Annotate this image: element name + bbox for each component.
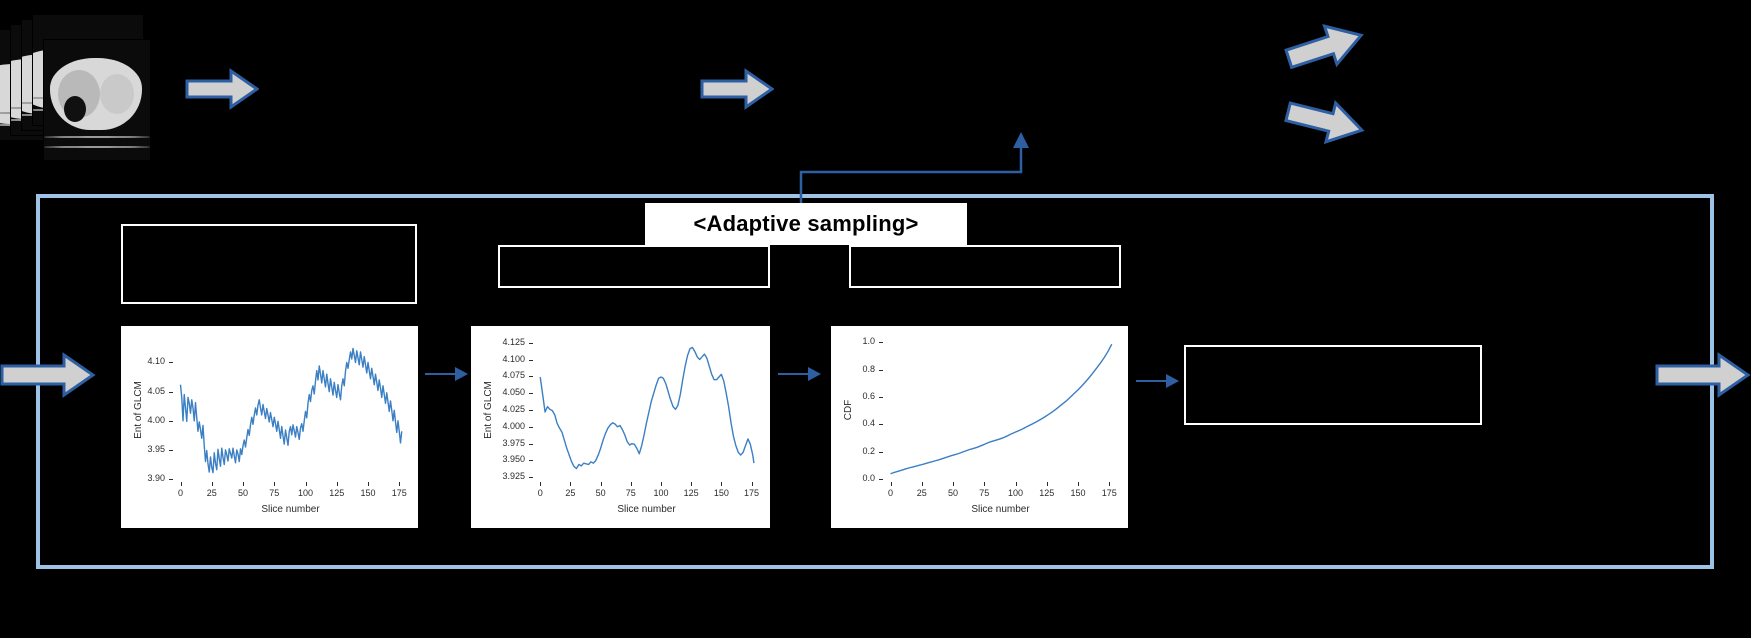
box-top-mid xyxy=(498,245,770,288)
arrow-stage2-to-out-upper xyxy=(1283,18,1367,76)
arrow-input-to-stage1 xyxy=(185,68,259,110)
arrow-chart3-to-output xyxy=(1136,373,1180,394)
series-line xyxy=(121,326,418,528)
figure-canvas: <Adaptive sampling> 3.903.954.004.054.10… xyxy=(0,0,1751,638)
box-top-right xyxy=(849,245,1121,288)
arrow-chart2-to-chart3 xyxy=(778,366,822,387)
series-line xyxy=(471,326,770,528)
chart-panel-entropy-smoothed: 3.9253.9503.9754.0004.0254.0504.0754.100… xyxy=(471,326,770,528)
arrow-stage2-to-out-lower xyxy=(1283,92,1367,150)
box-top-left xyxy=(121,224,417,304)
ct-slice-stack xyxy=(0,8,150,163)
box-right-output xyxy=(1184,345,1482,425)
arrow-chart1-to-chart2 xyxy=(425,366,469,387)
chart-panel-cdf: 0.00.20.40.60.81.00255075100125150175Sli… xyxy=(831,326,1128,528)
adaptive-sampling-text: <Adaptive sampling> xyxy=(693,211,918,237)
adaptive-sampling-label: <Adaptive sampling> xyxy=(645,203,967,245)
arrow-pipeline-in xyxy=(0,352,96,398)
series-line xyxy=(831,326,1128,528)
chart-panel-entropy-raw: 3.903.954.004.054.100255075100125150175S… xyxy=(121,326,418,528)
ct-slice-front xyxy=(44,40,150,160)
arrow-stage1-to-stage2 xyxy=(700,68,774,110)
arrow-pipeline-out xyxy=(1655,352,1751,398)
